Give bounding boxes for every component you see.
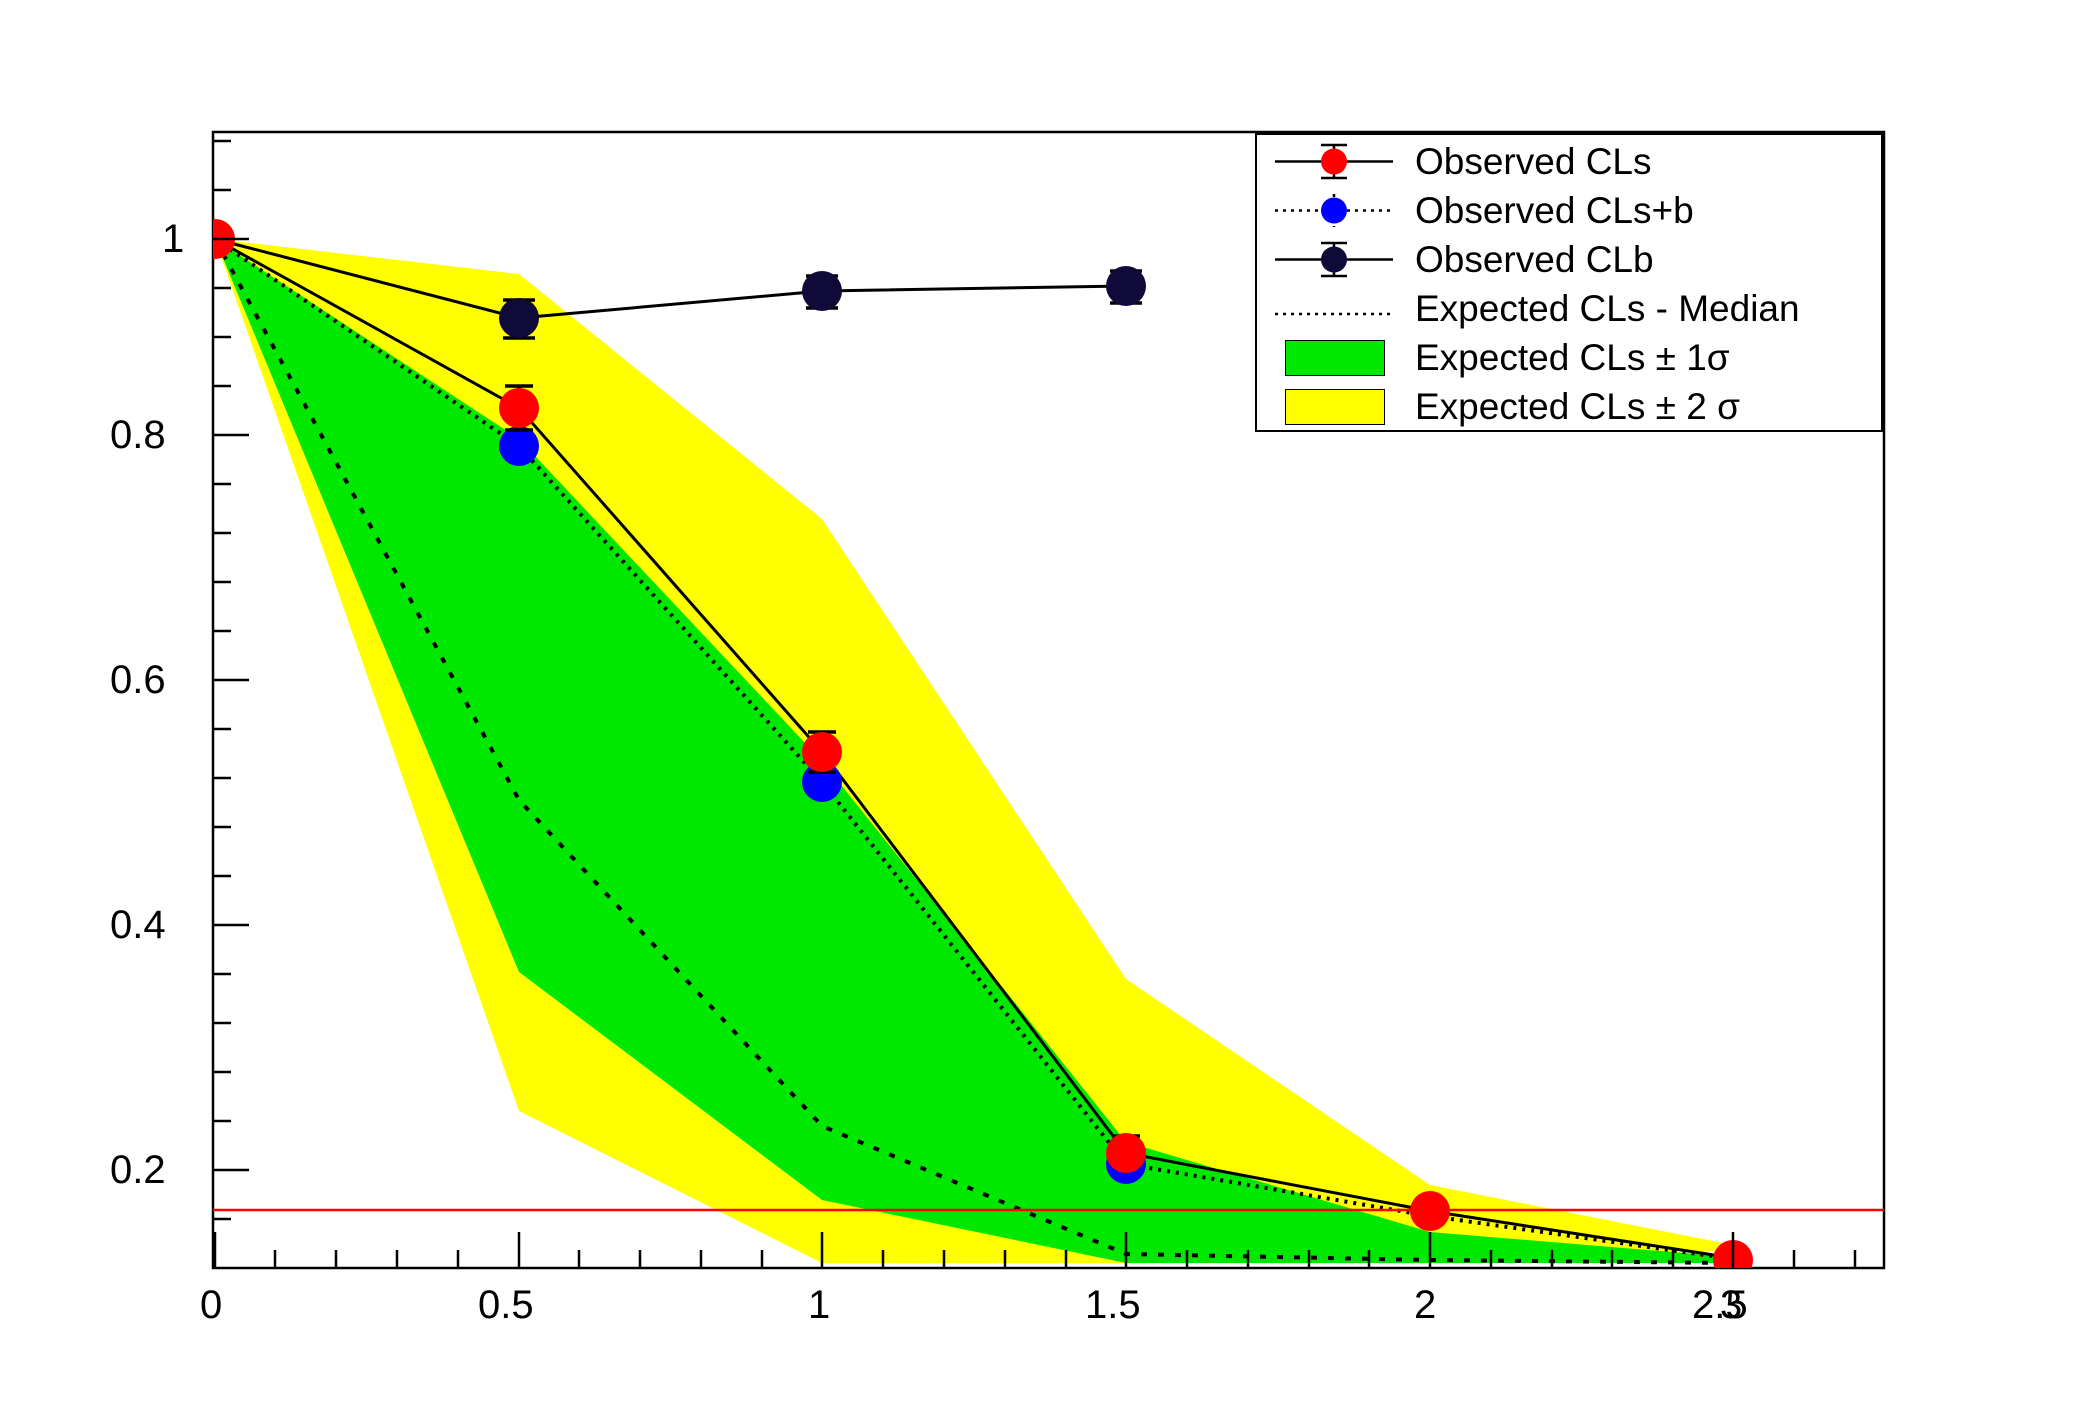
marker-cls <box>1410 1191 1450 1231</box>
legend-label: Expected CLs ± 1σ <box>1415 339 1730 376</box>
legend-key-observed-clsb <box>1257 186 1415 235</box>
legend-item-expected-1sigma[interactable]: Expected CLs ± 1σ <box>1257 333 1885 382</box>
x-tick-label: 2 <box>1414 1283 1436 1328</box>
swatch-2sigma <box>1285 389 1385 425</box>
marker-cls <box>499 388 539 428</box>
marker-clb <box>1106 266 1146 306</box>
legend-item-expected-2sigma[interactable]: Expected CLs ± 2 σ <box>1257 382 1885 431</box>
x-tick-label: 3 <box>1720 1283 1742 1328</box>
legend-key-expected-1sigma <box>1257 333 1415 382</box>
legend-label: Observed CLs+b <box>1415 192 1694 229</box>
swatch-1sigma <box>1285 340 1385 376</box>
y-tick-label: 0.2 <box>110 1148 166 1193</box>
x-tick-label: 0 <box>200 1283 222 1328</box>
marker-clsb <box>499 426 539 466</box>
legend-label: Observed CLs <box>1415 143 1652 180</box>
legend-item-observed-clsb[interactable]: Observed CLs+b <box>1257 186 1885 235</box>
x-tick-label: 1.5 <box>1085 1283 1141 1328</box>
x-tick-label: 1 <box>808 1283 830 1328</box>
y-tick-label: 0.8 <box>110 413 166 458</box>
legend-label: Expected CLs - Median <box>1415 290 1800 327</box>
legend-item-expected-median[interactable]: Expected CLs - Median <box>1257 284 1885 333</box>
y-tick-label: 0.6 <box>110 658 166 703</box>
legend-item-observed-cls[interactable]: Observed CLs <box>1257 137 1885 186</box>
y-tick-label: 1 <box>162 217 184 262</box>
legend-label: Observed CLb <box>1415 241 1654 278</box>
marker-cls <box>1106 1133 1146 1173</box>
y-tick-label: 0.4 <box>110 903 166 948</box>
marker-clb <box>499 298 539 338</box>
legend-item-observed-clb[interactable]: Observed CLb <box>1257 235 1885 284</box>
legend-key-expected-median <box>1257 284 1415 333</box>
legend-key-observed-clb <box>1257 235 1415 284</box>
legend-key-observed-cls <box>1257 137 1415 186</box>
legend: Observed CLs Observed CLs+b Observed CLb <box>1255 133 1883 432</box>
marker-cls <box>802 732 842 772</box>
x-tick-label: 0.5 <box>478 1283 534 1328</box>
marker-clb <box>802 271 842 311</box>
legend-key-expected-2sigma <box>1257 382 1415 431</box>
legend-label: Expected CLs ± 2 σ <box>1415 388 1740 425</box>
